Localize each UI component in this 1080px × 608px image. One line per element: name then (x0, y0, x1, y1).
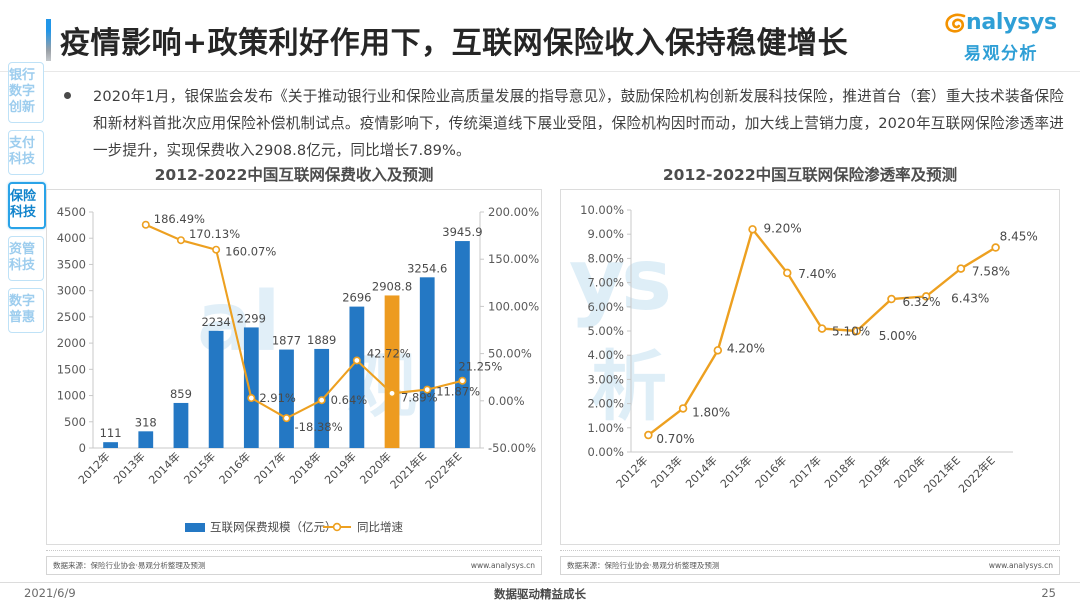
svg-text:21.25%: 21.25% (458, 360, 502, 374)
source-site: www.analysys.cn (989, 561, 1053, 570)
svg-text:2018年: 2018年 (286, 449, 323, 486)
svg-text:50.00%: 50.00% (488, 347, 532, 361)
penetration-chart-box: ys 析 0.00%1.00%2.00%3.00%4.00%5.00%6.00%… (560, 189, 1060, 545)
svg-text:4000: 4000 (57, 231, 86, 245)
svg-text:0.00%: 0.00% (488, 394, 525, 408)
footer-slogan: 数据驱动精益成长 (0, 586, 1080, 602)
source-dots-right (560, 550, 1060, 553)
svg-text:42.72%: 42.72% (367, 346, 411, 360)
svg-text:1.00%: 1.00% (587, 421, 624, 435)
svg-text:200.00%: 200.00% (488, 205, 539, 219)
source-dots-left (46, 550, 542, 553)
svg-text:2015年: 2015年 (181, 449, 218, 486)
svg-text:100.00%: 100.00% (488, 299, 539, 313)
svg-text:2021年E: 2021年E (921, 453, 963, 495)
svg-text:2696: 2696 (342, 291, 371, 305)
svg-text:5.00%: 5.00% (879, 329, 917, 343)
svg-text:318: 318 (135, 415, 157, 429)
svg-text:2000: 2000 (57, 336, 86, 350)
svg-text:2908.8: 2908.8 (372, 279, 412, 293)
analysys-logo: nalysys 易观分析 (940, 10, 1062, 62)
svg-text:5.10%: 5.10% (832, 325, 870, 339)
svg-text:0: 0 (79, 441, 86, 455)
svg-text:160.07%: 160.07% (225, 245, 276, 259)
svg-text:2299: 2299 (237, 311, 266, 325)
category-sidebar: 银行数字创新 支付科技 保险科技 资管科技 数字普惠 (6, 62, 46, 340)
svg-text:2019年: 2019年 (322, 449, 359, 486)
sidebar-item-insurance[interactable]: 保险科技 (8, 182, 46, 229)
svg-text:1500: 1500 (57, 362, 86, 376)
svg-text:2019年: 2019年 (856, 453, 893, 490)
svg-text:11.87%: 11.87% (436, 385, 480, 399)
svg-text:2017年: 2017年 (787, 453, 824, 490)
penetration-chart-svg: 0.00%1.00%2.00%3.00%4.00%5.00%6.00%7.00%… (561, 190, 1059, 544)
svg-text:6.32%: 6.32% (902, 295, 940, 309)
svg-text:1877: 1877 (272, 334, 301, 348)
svg-text:7.00%: 7.00% (587, 276, 624, 290)
sidebar-item-label: 数字普惠 (9, 294, 43, 326)
svg-text:2018年: 2018年 (821, 453, 858, 490)
svg-text:0.64%: 0.64% (331, 393, 368, 407)
svg-text:7.58%: 7.58% (972, 265, 1010, 279)
svg-text:7.89%: 7.89% (401, 390, 438, 404)
svg-text:2500: 2500 (57, 310, 86, 324)
svg-text:170.13%: 170.13% (189, 227, 240, 241)
sidebar-item-asset[interactable]: 资管科技 (8, 236, 44, 281)
title-accent-bar (46, 19, 51, 61)
svg-text:2022年E: 2022年E (955, 453, 997, 495)
svg-text:9.00%: 9.00% (587, 227, 624, 241)
svg-text:4500: 4500 (57, 205, 86, 219)
svg-text:1.80%: 1.80% (692, 405, 730, 419)
svg-text:2016年: 2016年 (752, 453, 789, 490)
svg-text:-18.38%: -18.38% (295, 420, 343, 434)
svg-text:3.00%: 3.00% (587, 372, 624, 386)
source-bar-left: 数据来源：保险行业协会·易观分析整理及预测 www.analysys.cn (46, 556, 542, 575)
svg-text:10.00%: 10.00% (580, 203, 624, 217)
svg-text:7.40%: 7.40% (798, 267, 836, 281)
svg-text:2013年: 2013年 (110, 449, 147, 486)
source-bar-right: 数据来源：保险行业协会·易观分析整理及预测 www.analysys.cn (560, 556, 1060, 575)
svg-text:8.00%: 8.00% (587, 251, 624, 265)
source-text: 数据来源：保险行业协会·易观分析整理及预测 (53, 560, 205, 571)
svg-text:3945.9: 3945.9 (442, 225, 482, 239)
header-divider (0, 71, 1080, 72)
svg-text:2016年: 2016年 (216, 449, 253, 486)
source-text: 数据来源：保险行业协会·易观分析整理及预测 (567, 560, 719, 571)
svg-text:互联网保费规模（亿元）: 互联网保费规模（亿元） (210, 520, 337, 534)
svg-text:同比增速: 同比增速 (357, 520, 403, 534)
source-site: www.analysys.cn (471, 561, 535, 570)
premium-chart-box: al 观 05001000150020002500300035004000450… (46, 189, 542, 545)
svg-text:2017年: 2017年 (251, 449, 288, 486)
penetration-chart-title: 2012-2022中国互联网保险渗透率及预测 (560, 165, 1060, 189)
svg-text:2.00%: 2.00% (587, 397, 624, 411)
svg-text:2014年: 2014年 (682, 453, 719, 490)
svg-text:2014年: 2014年 (146, 449, 183, 486)
svg-text:3500: 3500 (57, 257, 86, 271)
footer-divider (0, 582, 1080, 583)
sidebar-item-payment[interactable]: 支付科技 (8, 130, 44, 175)
svg-text:859: 859 (170, 387, 192, 401)
sidebar-item-inclusive[interactable]: 数字普惠 (8, 288, 44, 333)
svg-text:2013年: 2013年 (648, 453, 685, 490)
svg-text:4.00%: 4.00% (587, 348, 624, 362)
svg-text:0.70%: 0.70% (656, 432, 694, 446)
svg-text:150.00%: 150.00% (488, 252, 539, 266)
sidebar-item-label: 支付科技 (9, 136, 43, 168)
svg-text:186.49%: 186.49% (154, 212, 205, 226)
svg-text:2015年: 2015年 (717, 453, 754, 490)
logo-chinese: 易观分析 (940, 39, 1062, 64)
sidebar-item-label: 保险科技 (10, 189, 44, 221)
sidebar-item-bank[interactable]: 银行数字创新 (8, 62, 44, 123)
bullet-paragraph: 2020年1月，银保监会发布《关于推动银行业和保险业高质量发展的指导意见》，鼓励… (64, 83, 1064, 164)
svg-text:3254.6: 3254.6 (407, 261, 447, 275)
premium-chart-svg: 050010001500200025003000350040004500-50.… (47, 190, 541, 544)
svg-text:9.20%: 9.20% (764, 221, 802, 235)
svg-text:2022年E: 2022年E (422, 449, 464, 491)
premium-chart-panel: 2012-2022中国互联网保费收入及预测 al 观 0500100015002… (46, 165, 542, 557)
svg-text:6.00%: 6.00% (587, 300, 624, 314)
svg-text:1889: 1889 (307, 333, 336, 347)
svg-text:5.00%: 5.00% (587, 324, 624, 338)
premium-chart-title: 2012-2022中国互联网保费收入及预测 (46, 165, 542, 189)
sidebar-item-label: 银行数字创新 (9, 68, 43, 116)
svg-text:1000: 1000 (57, 389, 86, 403)
svg-text:3000: 3000 (57, 284, 86, 298)
svg-text:2234: 2234 (201, 315, 230, 329)
bullet-dot-icon (64, 92, 71, 99)
footer-page-number: 25 (1041, 586, 1056, 600)
svg-text:-50.00%: -50.00% (488, 441, 536, 455)
svg-text:2021年E: 2021年E (387, 449, 429, 491)
page-title: 疫情影响+政策利好作用下，互联网保险收入保持稳健增长 (60, 18, 848, 62)
svg-text:4.20%: 4.20% (727, 341, 765, 355)
svg-text:111: 111 (100, 426, 122, 440)
svg-text:6.43%: 6.43% (951, 291, 989, 305)
svg-text:0.00%: 0.00% (587, 445, 624, 459)
penetration-chart-panel: 2012-2022中国互联网保险渗透率及预测 ys 析 0.00%1.00%2.… (560, 165, 1060, 557)
svg-text:8.45%: 8.45% (1000, 230, 1038, 244)
page-header: 疫情影响+政策利好作用下，互联网保险收入保持稳健增长 nalysys 易观分析 (0, 0, 1080, 72)
logo-wordmark: nalysys (966, 10, 1057, 35)
svg-text:500: 500 (64, 415, 86, 429)
svg-text:2.91%: 2.91% (259, 391, 296, 405)
sidebar-item-label: 资管科技 (9, 242, 43, 274)
bullet-text: 2020年1月，银保监会发布《关于推动银行业和保险业高质量发展的指导意见》，鼓励… (93, 83, 1064, 164)
